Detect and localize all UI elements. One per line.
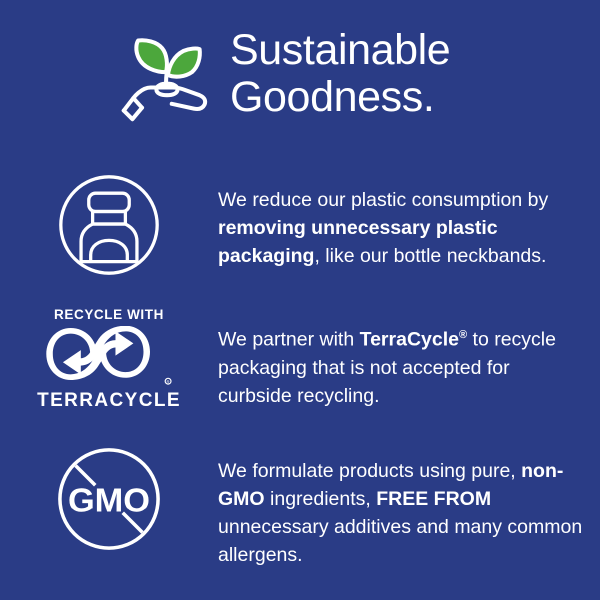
feature-text-part: We reduce our plastic consumption by (218, 189, 548, 211)
feature-text-part: ingredients, (265, 488, 377, 510)
svg-text:R: R (167, 380, 170, 385)
feature-row-plastic: We reduce our plastic consumption by rem… (0, 170, 600, 278)
feature-icon-cell (0, 170, 218, 278)
feature-text-part: We formulate products using pure, (218, 460, 521, 482)
registered-trademark-mark: ® (459, 329, 467, 341)
page-title-line-2: Goodness. (230, 74, 450, 121)
terracycle-top-label: RECYCLE WITH (54, 307, 164, 323)
infinity-arrows-icon: R (41, 326, 177, 388)
gmo-label: GMO (68, 482, 150, 520)
feature-icon-cell: GMO (0, 443, 218, 553)
feature-text-bold: FREE FROM (376, 488, 491, 510)
header: Sustainable Goodness. (0, 24, 600, 124)
page-title-line-1: Sustainable (230, 26, 450, 74)
terracycle-logo-icon: RECYCLE WITH R TERRACYCLE (39, 307, 179, 412)
no-gmo-icon: GMO (55, 445, 163, 553)
feature-text-terracycle: We partner with TerraCycle® to recycle p… (218, 305, 600, 410)
sustainability-poster: Sustainable Goodness. We re (0, 0, 600, 600)
feature-row-gmo: GMO We formulate products using pure, no… (0, 443, 600, 569)
feature-text-gmo: We formulate products using pure, non-GM… (218, 443, 600, 569)
hand-holding-sprout-icon (118, 28, 214, 124)
page-title: Sustainable Goodness. (230, 27, 450, 121)
feature-text-part: unnecessary additives and many common al… (218, 516, 582, 566)
terracycle-bottom-label: TERRACYCLE (37, 390, 181, 412)
feature-icon-cell: RECYCLE WITH R TERRACYCLE (0, 305, 218, 412)
feature-row-terracycle: RECYCLE WITH R TERRACYCLE We partner wit… (0, 305, 600, 412)
bottle-in-circle-icon (56, 172, 162, 278)
feature-text-part: We partner with (218, 329, 360, 351)
feature-text-part: , like our bottle neckbands. (314, 245, 546, 267)
feature-text-bold: TerraCycle (360, 329, 459, 351)
feature-text-plastic: We reduce our plastic consumption by rem… (218, 170, 600, 270)
